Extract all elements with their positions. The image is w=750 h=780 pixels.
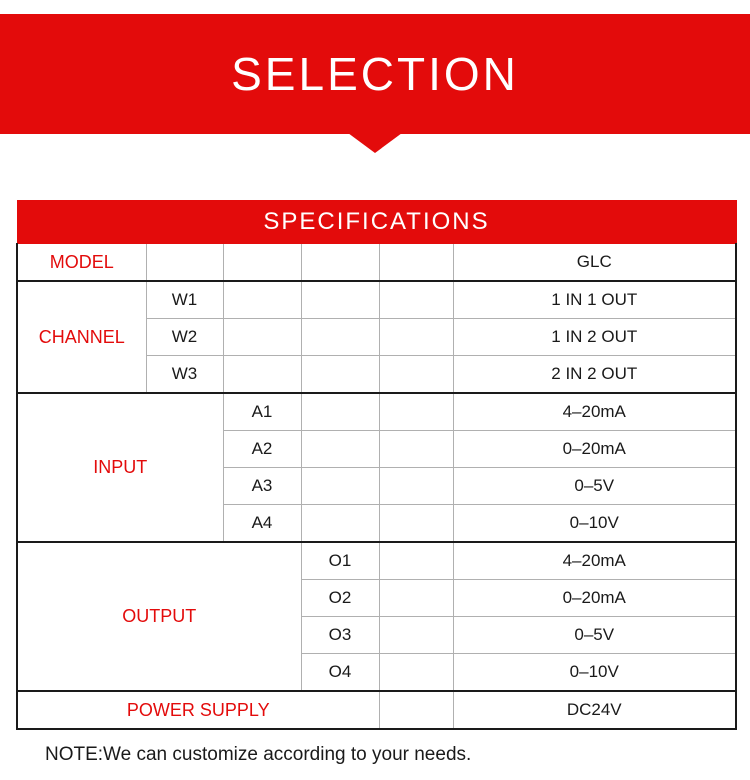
spacer-cell xyxy=(301,356,379,394)
row-sub-w2: W2 xyxy=(146,319,223,356)
spacer-cell xyxy=(223,356,301,394)
spacer-cell xyxy=(146,244,223,282)
row-value-a2: 0–20mA xyxy=(453,431,736,468)
row-sub-a2: A2 xyxy=(223,431,301,468)
banner-title: SELECTION xyxy=(231,51,519,97)
row-sub-o4: O4 xyxy=(301,654,379,692)
spacer-cell xyxy=(379,281,453,319)
row-sub-a1: A1 xyxy=(223,393,301,431)
row-sub-a4: A4 xyxy=(223,505,301,543)
table-row: MODEL GLC xyxy=(17,244,736,282)
row-value-o4: 0–10V xyxy=(453,654,736,692)
row-value-o1: 4–20mA xyxy=(453,542,736,580)
spacer-cell xyxy=(379,356,453,394)
table-header-row: SPECIFICATIONS xyxy=(17,201,736,244)
spacer-cell xyxy=(379,431,453,468)
row-value-power-supply: DC24V xyxy=(453,691,736,729)
table-header-title: SPECIFICATIONS xyxy=(17,201,736,244)
row-label-output: OUTPUT xyxy=(17,542,301,691)
row-sub-w1: W1 xyxy=(146,281,223,319)
row-sub-o2: O2 xyxy=(301,580,379,617)
row-sub-w3: W3 xyxy=(146,356,223,394)
spacer-cell xyxy=(301,468,379,505)
spacer-cell xyxy=(379,244,453,282)
spacer-cell xyxy=(301,244,379,282)
table-row: POWER SUPPLY DC24V xyxy=(17,691,736,729)
row-value-a4: 0–10V xyxy=(453,505,736,543)
table-row: OUTPUT O1 4–20mA xyxy=(17,542,736,580)
spacer-cell xyxy=(379,542,453,580)
row-sub-o3: O3 xyxy=(301,617,379,654)
note-text: NOTE:We can customize according to your … xyxy=(45,744,471,766)
spacer-cell xyxy=(301,281,379,319)
spacer-cell xyxy=(301,393,379,431)
spacer-cell xyxy=(379,691,453,729)
row-value-o3: 0–5V xyxy=(453,617,736,654)
spacer-cell xyxy=(379,319,453,356)
spacer-cell xyxy=(301,431,379,468)
row-value-a1: 4–20mA xyxy=(453,393,736,431)
selection-banner: SELECTION xyxy=(0,14,750,134)
row-value-w2: 1 IN 2 OUT xyxy=(453,319,736,356)
spacer-cell xyxy=(379,505,453,543)
row-label-channel: CHANNEL xyxy=(17,281,146,393)
row-sub-a3: A3 xyxy=(223,468,301,505)
row-value-w3: 2 IN 2 OUT xyxy=(453,356,736,394)
spacer-cell xyxy=(223,319,301,356)
row-label-power-supply: POWER SUPPLY xyxy=(17,691,379,729)
row-value-o2: 0–20mA xyxy=(453,580,736,617)
spacer-cell xyxy=(301,505,379,543)
spacer-cell xyxy=(379,393,453,431)
row-sub-o1: O1 xyxy=(301,542,379,580)
spacer-cell xyxy=(223,244,301,282)
spacer-cell xyxy=(301,319,379,356)
table-row: CHANNEL W1 1 IN 1 OUT xyxy=(17,281,736,319)
row-label-input: INPUT xyxy=(17,393,223,542)
spacer-cell xyxy=(379,580,453,617)
spacer-cell xyxy=(223,281,301,319)
row-label-model: MODEL xyxy=(17,244,146,282)
spacer-cell xyxy=(379,468,453,505)
row-value-a3: 0–5V xyxy=(453,468,736,505)
spacer-cell xyxy=(379,654,453,692)
banner-arrow-icon xyxy=(348,133,402,153)
row-value-w1: 1 IN 1 OUT xyxy=(453,281,736,319)
table-row: INPUT A1 4–20mA xyxy=(17,393,736,431)
row-value-model: GLC xyxy=(453,244,736,282)
spacer-cell xyxy=(379,617,453,654)
specifications-table: SPECIFICATIONS MODEL GLC CHANNEL W1 1 IN… xyxy=(16,200,737,730)
